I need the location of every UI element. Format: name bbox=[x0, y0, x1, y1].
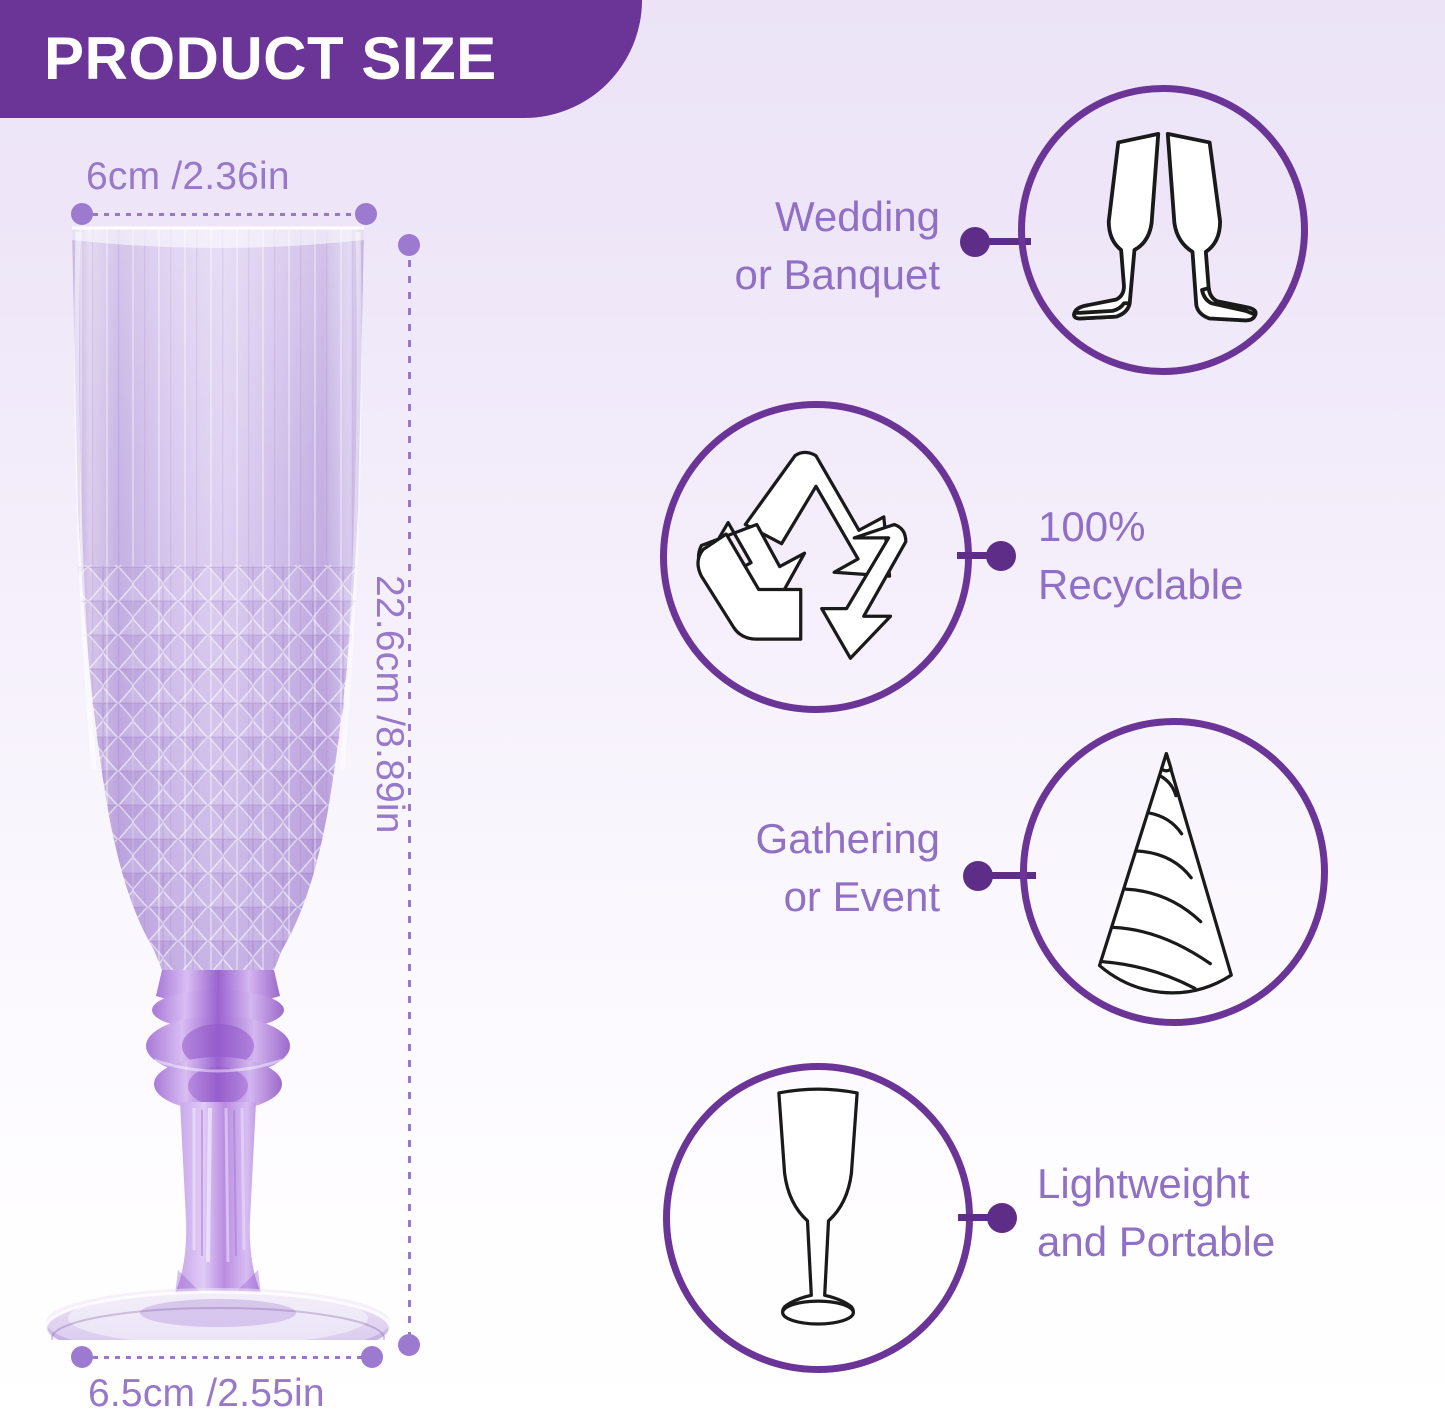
feature-circle-lightweight bbox=[663, 1063, 973, 1373]
party-hat-icon bbox=[1027, 725, 1321, 1019]
page-title: PRODUCT SIZE bbox=[44, 29, 497, 89]
single-champagne-flute-icon bbox=[670, 1070, 966, 1366]
feature-circle-recyclable bbox=[660, 401, 972, 713]
feature-label-line2: or Event bbox=[640, 868, 940, 926]
dimension-endpoint-dot bbox=[361, 1346, 383, 1368]
feature-label-line2: Recyclable bbox=[1038, 556, 1328, 614]
glass-bowl bbox=[68, 224, 368, 984]
feature-circle-gathering bbox=[1020, 718, 1328, 1026]
feature-label-line1: Wedding bbox=[650, 188, 940, 246]
connector-dot bbox=[986, 541, 1016, 571]
dimension-line-width-base bbox=[82, 1356, 372, 1359]
feature-label-gathering: Gathering or Event bbox=[640, 810, 940, 926]
feature-label-recyclable: 100% Recyclable bbox=[1038, 498, 1328, 614]
feature-circle-wedding bbox=[1018, 85, 1308, 375]
feature-label-lightweight: Lightweight and Portable bbox=[1037, 1155, 1347, 1271]
connector-dot bbox=[987, 1203, 1017, 1233]
feature-label-line1: 100% bbox=[1038, 498, 1328, 556]
header-banner: PRODUCT SIZE bbox=[0, 0, 642, 118]
two-champagne-flutes-toasting-icon bbox=[1025, 92, 1301, 368]
dimension-endpoint-dot bbox=[71, 1346, 93, 1368]
feature-label-line2: or Banquet bbox=[650, 246, 940, 304]
glass-foot bbox=[46, 1288, 390, 1340]
feature-label-line1: Gathering bbox=[640, 810, 940, 868]
dimension-line-height bbox=[408, 244, 411, 1344]
product-size-infographic: PRODUCT SIZE bbox=[0, 0, 1445, 1423]
recycle-symbol-icon bbox=[667, 408, 965, 706]
connector-dot bbox=[960, 227, 990, 257]
dimension-label-width-base: 6.5cm /2.55in bbox=[88, 1372, 325, 1416]
product-image bbox=[28, 210, 408, 1340]
dimension-label-width-top: 6cm /2.36in bbox=[86, 155, 290, 199]
feature-label-line1: Lightweight bbox=[1037, 1155, 1347, 1213]
connector-dot bbox=[963, 861, 993, 891]
feature-label-wedding: Wedding or Banquet bbox=[650, 188, 940, 304]
glass-stem-knob bbox=[146, 970, 290, 1111]
feature-label-line2: and Portable bbox=[1037, 1213, 1347, 1271]
